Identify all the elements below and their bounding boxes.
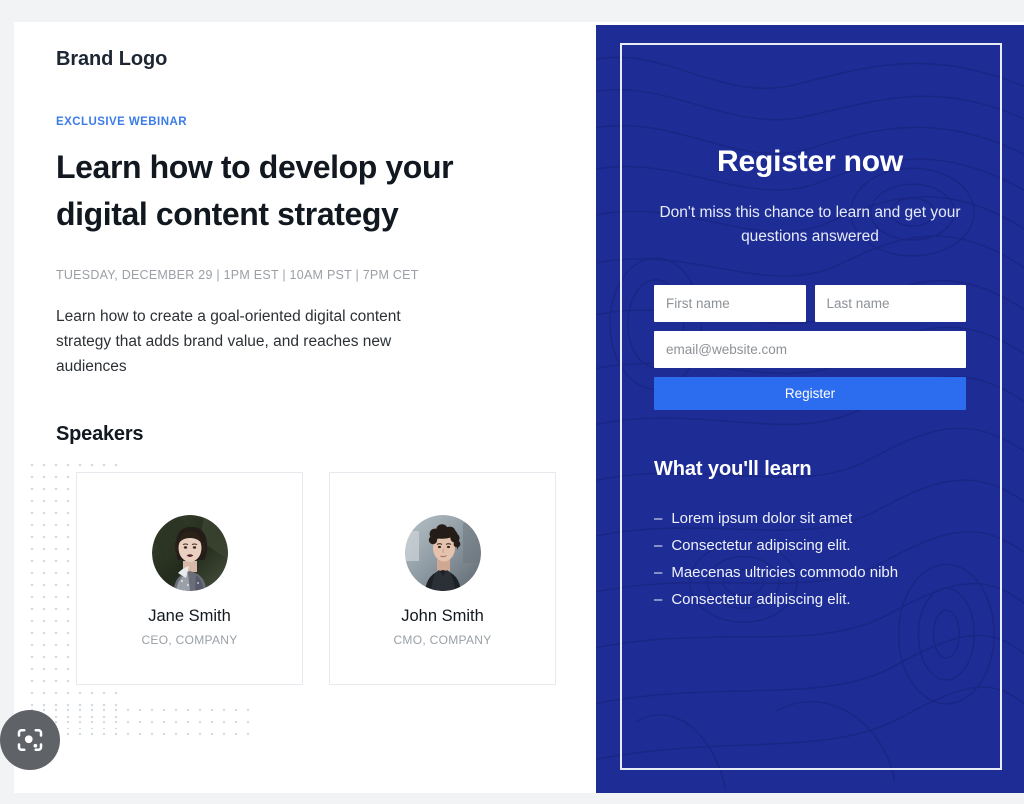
google-lens-icon [15, 725, 45, 755]
event-datetime: TUESDAY, DECEMBER 29 | 1PM EST | 10AM PS… [56, 268, 556, 282]
list-item: – Consectetur adipiscing elit. [654, 586, 966, 613]
register-panel: Register now Don't miss this chance to l… [596, 25, 1024, 793]
what-youll-learn-list: – Lorem ipsum dolor sit amet – Consectet… [654, 505, 966, 613]
avatar [405, 515, 481, 591]
speaker-role: CMO, COMPANY [393, 633, 491, 647]
dash-bullet: – [654, 532, 662, 559]
speaker-card[interactable]: Jane Smith CEO, COMPANY [76, 472, 303, 685]
registration-form: Register [654, 285, 966, 410]
speaker-card-grid: Jane Smith CEO, COMPANY [76, 472, 556, 685]
email-input[interactable] [654, 331, 966, 368]
name-field-row [654, 285, 966, 322]
dash-bullet: – [654, 505, 662, 532]
last-name-input[interactable] [815, 285, 967, 322]
list-item-label: Lorem ipsum dolor sit amet [671, 505, 852, 532]
speaker-role: CEO, COMPANY [141, 633, 237, 647]
list-item-label: Consectetur adipiscing elit. [671, 532, 850, 559]
left-content-column: Brand Logo EXCLUSIVE WEBINAR Learn how t… [14, 22, 596, 793]
speaker-name: Jane Smith [148, 607, 231, 626]
hero-description: Learn how to create a goal-oriented digi… [56, 304, 446, 379]
register-subtitle: Don't miss this chance to learn and get … [654, 201, 966, 249]
register-heading: Register now [654, 145, 966, 179]
first-name-input[interactable] [654, 285, 806, 322]
what-youll-learn-heading: What you'll learn [654, 458, 966, 481]
what-youll-learn-section: What you'll learn – Lorem ipsum dolor si… [654, 458, 966, 613]
list-item: – Lorem ipsum dolor sit amet [654, 505, 966, 532]
dash-bullet: – [654, 586, 662, 613]
dot-grid-decoration-bottom [26, 704, 256, 738]
list-item: – Consectetur adipiscing elit. [654, 532, 966, 559]
list-item: – Maecenas ultricies commodo nibh [654, 559, 966, 586]
list-item-label: Maecenas ultricies commodo nibh [671, 559, 898, 586]
avatar [152, 515, 228, 591]
google-lens-button[interactable] [0, 710, 60, 770]
brand-logo: Brand Logo [56, 48, 556, 71]
dash-bullet: – [654, 559, 662, 586]
speaker-name: John Smith [401, 607, 484, 626]
page-title: Learn how to develop your digital conten… [56, 144, 486, 238]
register-submit-button[interactable]: Register [654, 377, 966, 410]
eyebrow-label: EXCLUSIVE WEBINAR [56, 116, 556, 128]
list-item-label: Consectetur adipiscing elit. [671, 586, 850, 613]
speaker-card[interactable]: John Smith CMO, COMPANY [329, 472, 556, 685]
register-panel-content: Register now Don't miss this chance to l… [596, 25, 1024, 613]
landing-page-card: Brand Logo EXCLUSIVE WEBINAR Learn how t… [14, 22, 1024, 793]
speakers-heading: Speakers [56, 423, 556, 446]
